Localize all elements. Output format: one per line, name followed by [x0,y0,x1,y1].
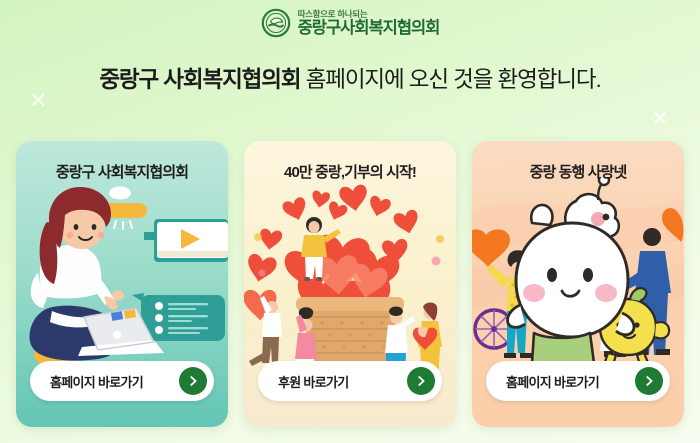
card-title: 40만 중랑,기부의 시작! [244,141,456,182]
cta-homepage-sarangnet[interactable]: 홈페이지 바로가기 [486,361,670,401]
logo-tagline: 따스함으로 하나되는 [298,10,440,19]
card-title: 중랑구 사회복지협의회 [16,141,228,182]
card-donation[interactable]: 40만 중랑,기부의 시작! [244,141,456,427]
cta-label: 홈페이지 바로가기 [50,372,143,391]
sparkle-decoration-right: × [652,104,668,132]
chevron-right-icon [407,367,435,395]
chevron-right-icon [179,367,207,395]
page-title-normal: 홈페이지에 오신 것을 환영합니다. [300,67,600,92]
card-council-homepage[interactable]: 중랑구 사회복지협의회 [16,141,228,427]
cta-label: 후원 바로가기 [278,372,348,391]
logo-org-name: 중랑구사회복지협의회 [298,20,440,37]
card-title: 중랑 동행 사랑넷 [472,141,684,182]
cta-donation[interactable]: 후원 바로가기 [258,361,442,401]
woman-laptop-video-illustration [16,177,228,382]
mascot-character-illustration [472,177,684,382]
card-sarangnet[interactable]: 중랑 동행 사랑넷 [472,141,684,427]
cta-label: 홈페이지 바로가기 [506,372,599,391]
cta-homepage-council[interactable]: 홈페이지 바로가기 [30,361,214,401]
chevron-right-icon [635,367,663,395]
page-title: 중랑구 사회복지협의회 홈페이지에 오신 것을 환영합니다. [0,62,700,94]
card-list: 중랑구 사회복지협의회 [0,141,700,427]
sparkle-decoration-left: × [30,86,46,114]
heart-basket-donation-illustration [244,177,456,382]
page-title-strong: 중랑구 사회복지협의회 [99,67,300,92]
council-emblem-icon [261,8,291,38]
site-logo[interactable]: 따스함으로 하나되는 중랑구사회복지협의회 [0,0,700,40]
